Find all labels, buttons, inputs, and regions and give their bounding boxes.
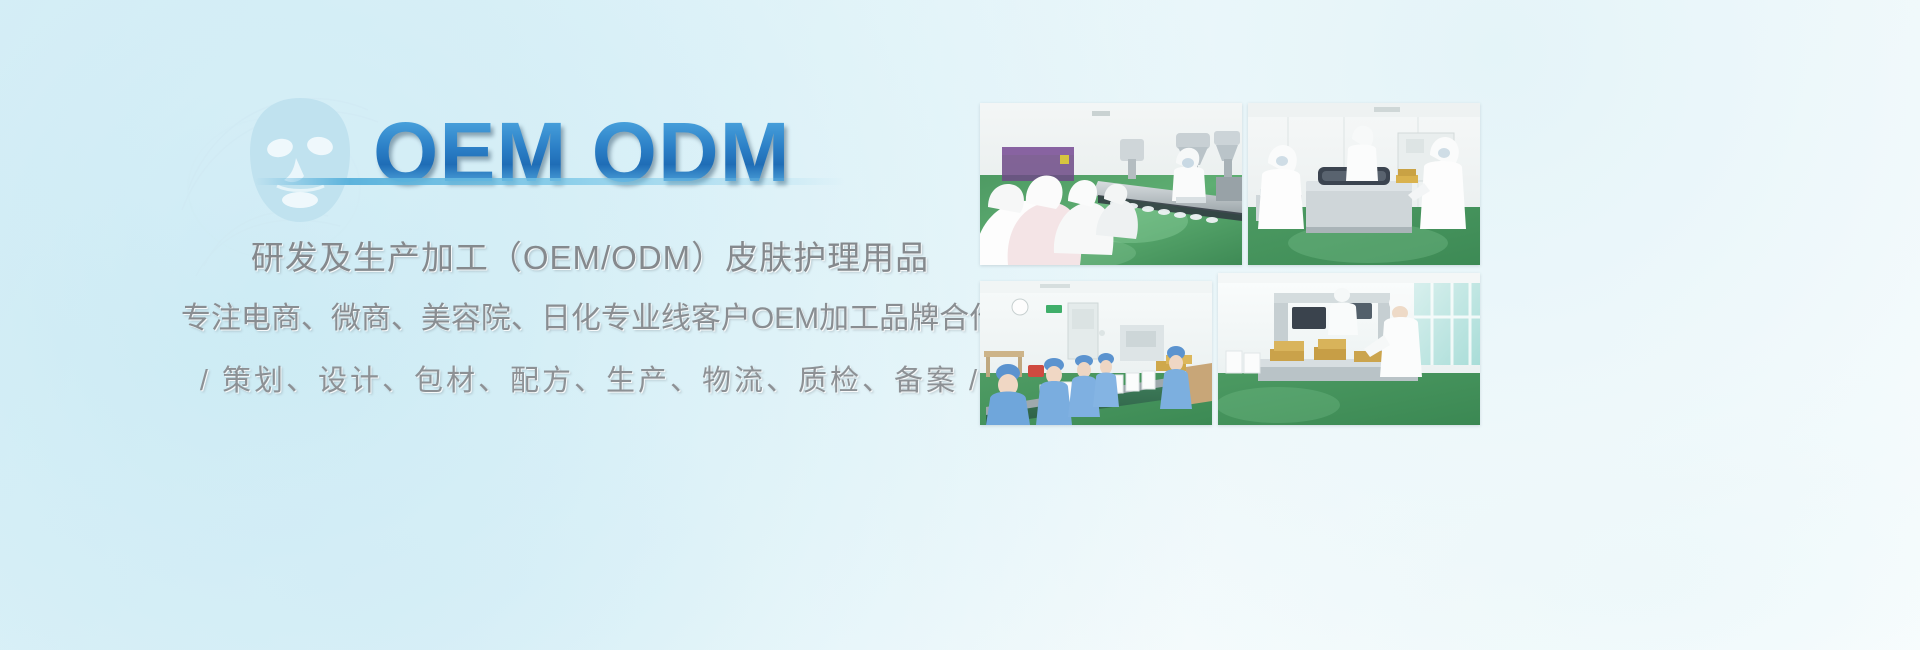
photo-filling-line [980, 103, 1242, 265]
headline-underline [255, 178, 845, 185]
tagline-line-1: 研发及生产加工（OEM/ODM）皮肤护理用品 [120, 236, 1060, 280]
page-title: OEM ODM [373, 100, 791, 204]
factory-photo-collage [980, 103, 1480, 425]
photo-cartoning-machine [1218, 273, 1480, 425]
tagline-block: 研发及生产加工（OEM/ODM）皮肤护理用品 专注电商、微商、美容院、日化专业线… [120, 236, 1060, 402]
headline-block: OEM ODM [255, 100, 875, 210]
photo-vacuum-packing [1248, 103, 1480, 265]
tagline-line-2: 专注电商、微商、美容院、日化专业线客户OEM加工品牌合作 [120, 298, 1060, 340]
oem-odm-banner: OEM ODM 研发及生产加工（OEM/ODM）皮肤护理用品 专注电商、微商、美… [0, 0, 1920, 650]
photo-packing-line [980, 281, 1212, 425]
tagline-line-3: / 策划、设计、包材、配方、生产、物流、质检、备案 / [120, 360, 1060, 402]
